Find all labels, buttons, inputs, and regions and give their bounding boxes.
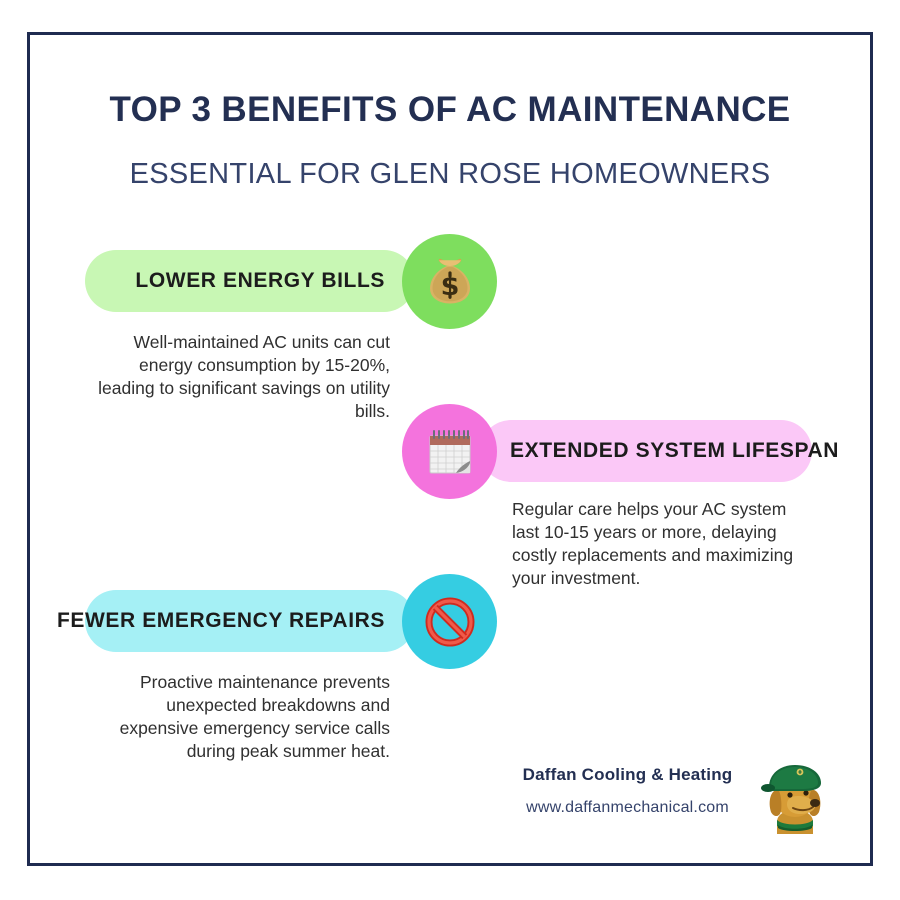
benefit-description-2: Regular care helps your AC system last 1…	[512, 498, 812, 590]
benefit-icon-bubble-1: $	[402, 234, 497, 329]
benefit-icon-bubble-3	[402, 574, 497, 669]
benefit-pill-3: FEWER EMERGENCY REPAIRS	[85, 590, 415, 652]
benefit-label-1: LOWER ENERGY BILLS	[135, 269, 385, 293]
prohibited-sign-icon	[423, 595, 477, 649]
benefit-pill-2: EXTENDED SYSTEM LIFESPAN	[480, 420, 812, 482]
page-title: TOP 3 BENEFITS OF AC MAINTENANCE	[0, 88, 900, 132]
brand-website[interactable]: www.daffanmechanical.com	[505, 796, 750, 820]
brand-text-block: Daffan Cooling & Heating www.daffanmecha…	[505, 763, 750, 820]
brand-name: Daffan Cooling & Heating	[505, 763, 750, 787]
benefit-label-3: FEWER EMERGENCY REPAIRS	[57, 609, 385, 633]
benefit-icon-bubble-2	[402, 404, 497, 499]
benefit-description-3: Proactive maintenance prevents unexpecte…	[88, 671, 390, 763]
infographic-poster: TOP 3 BENEFITS OF AC MAINTENANCE ESSENTI…	[0, 0, 900, 900]
dog-mascot-logo	[757, 760, 833, 838]
spiral-calendar-icon	[423, 425, 477, 479]
benefit-label-2: EXTENDED SYSTEM LIFESPAN	[510, 439, 839, 463]
benefit-pill-1: LOWER ENERGY BILLS	[85, 250, 415, 312]
money-bag-icon: $	[423, 255, 477, 309]
page-subtitle: ESSENTIAL FOR GLEN ROSE HOMEOWNERS	[0, 155, 900, 193]
benefit-description-1: Well-maintained AC units can cut energy …	[88, 331, 390, 423]
svg-text:$: $	[440, 271, 459, 302]
footer-branding: Daffan Cooling & Heating www.daffanmecha…	[505, 763, 835, 843]
